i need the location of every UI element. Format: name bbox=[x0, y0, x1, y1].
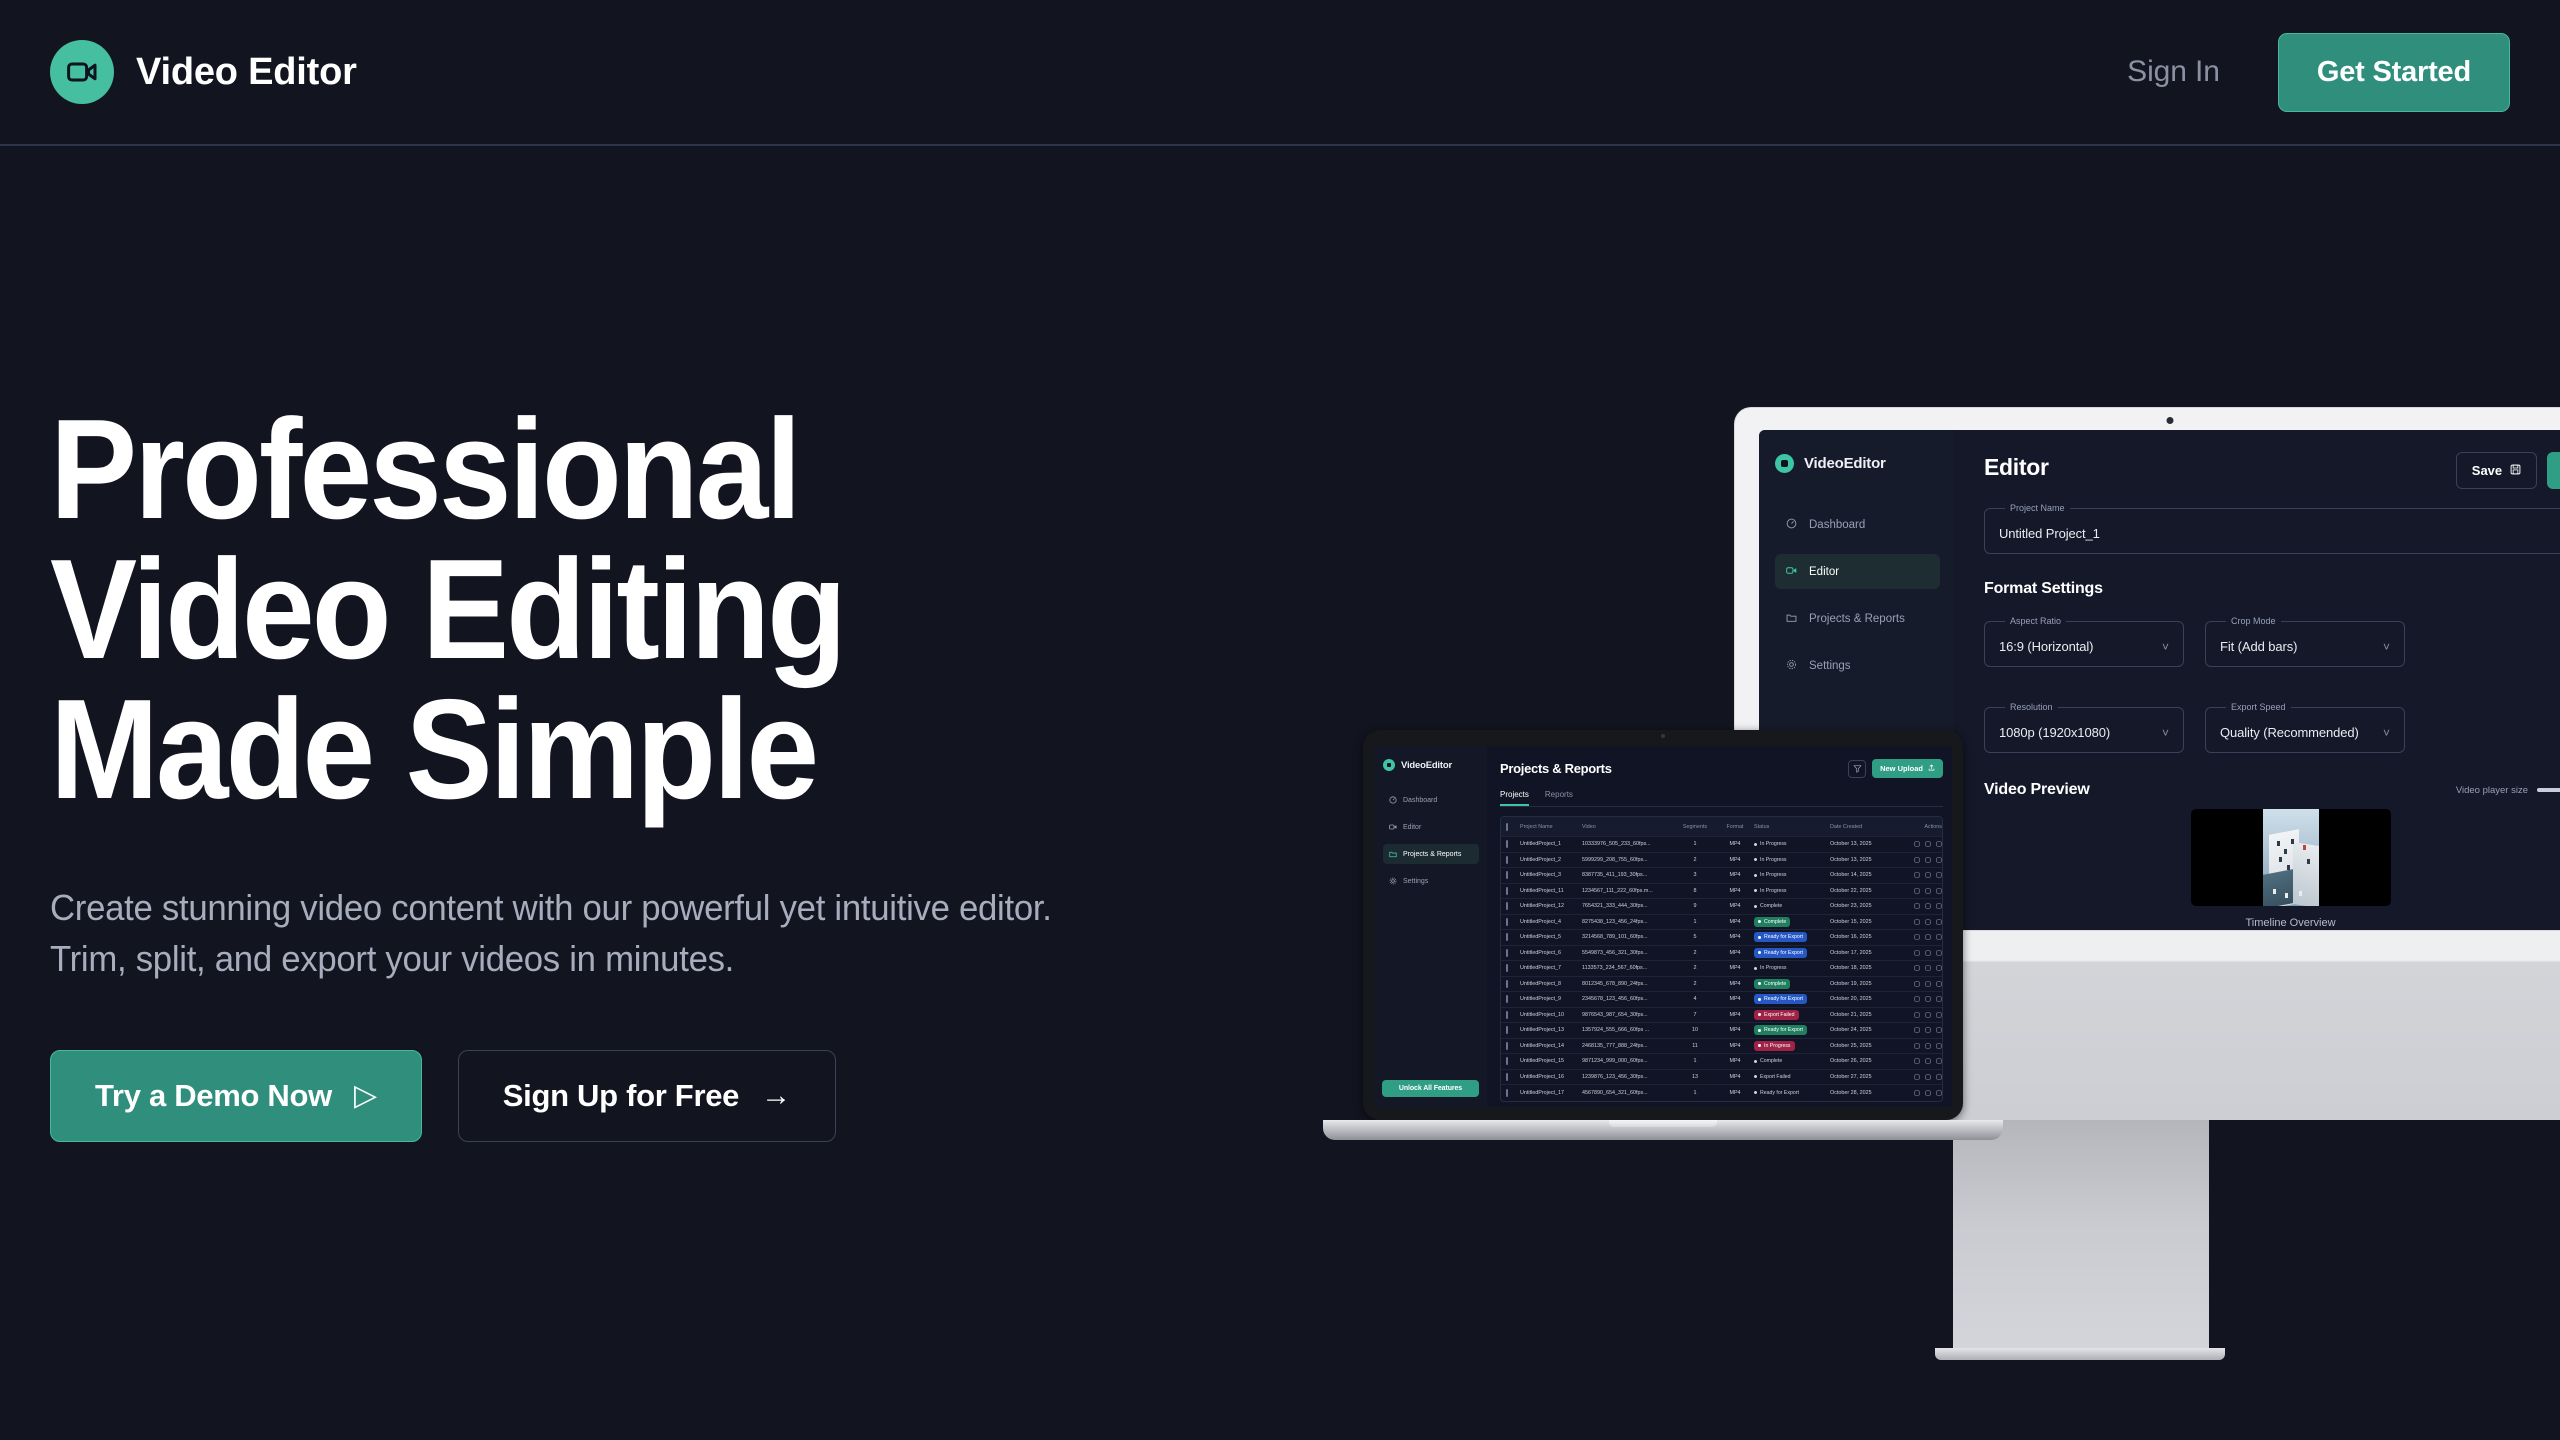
cell-video: 8387735_411_193_30fps... bbox=[1582, 872, 1674, 878]
sidebar-item-dashboard[interactable]: Dashboard bbox=[1383, 790, 1479, 810]
status-badge: Ready for Export bbox=[1754, 1025, 1807, 1035]
app-logo-icon bbox=[1383, 759, 1395, 771]
cell-segments: 4 bbox=[1674, 996, 1716, 1002]
trash-icon[interactable] bbox=[1936, 1043, 1942, 1049]
cell-date-created: October 14, 2025 bbox=[1830, 872, 1900, 878]
sidebar-item-editor[interactable]: Editor bbox=[1775, 554, 1940, 589]
table-row[interactable]: UntitledProject_110333976_505_233_60fps.… bbox=[1501, 837, 1942, 853]
cell-video: 10333976_505_233_60fps... bbox=[1582, 841, 1674, 847]
download-icon[interactable] bbox=[1925, 1043, 1931, 1049]
download-icon[interactable] bbox=[1925, 981, 1931, 987]
sign-up-button[interactable]: Sign Up for Free → bbox=[458, 1050, 836, 1142]
cell-segments: 1 bbox=[1674, 1090, 1716, 1096]
cell-date-created: October 20, 2025 bbox=[1830, 996, 1900, 1002]
table-row[interactable]: UntitledProject_174567890_654_321_60fps.… bbox=[1501, 1085, 1942, 1101]
edit-icon[interactable] bbox=[1914, 1012, 1920, 1018]
video-preview-header: Video Preview Video player size bbox=[1984, 781, 2560, 799]
row-checkbox[interactable] bbox=[1506, 872, 1520, 878]
landing-page: Video Editor Sign In Get Started Profess… bbox=[0, 0, 2560, 1440]
cell-date-created: October 16, 2025 bbox=[1830, 934, 1900, 940]
cell-format: MP4 bbox=[1716, 996, 1754, 1002]
cell-video: 3214568_789_101_60fps... bbox=[1582, 934, 1674, 940]
table-row[interactable]: UntitledProject_131357924_555_666_60fps … bbox=[1501, 1023, 1942, 1039]
cell-segments: 3 bbox=[1674, 872, 1716, 878]
cell-format: MP4 bbox=[1716, 888, 1754, 894]
row-checkbox[interactable] bbox=[1506, 934, 1520, 940]
cell-video: 2345678_123_456_60fps... bbox=[1582, 996, 1674, 1002]
cell-status: Export Failed bbox=[1754, 1010, 1830, 1020]
cell-status: Complete bbox=[1754, 901, 1830, 911]
cell-format: MP4 bbox=[1716, 857, 1754, 863]
edit-icon[interactable] bbox=[1914, 1058, 1920, 1064]
table-row[interactable]: UntitledProject_71133573_234_567_60fps..… bbox=[1501, 961, 1942, 977]
resolution-label: Resolution bbox=[2005, 702, 2058, 712]
laptop-app-brand-label: VideoEditor bbox=[1401, 760, 1452, 771]
table-row[interactable]: UntitledProject_127654321_333_444_30fps.… bbox=[1501, 899, 1942, 915]
sidebar-item-settings[interactable]: Settings bbox=[1775, 648, 1940, 683]
col-project-name[interactable]: Project Name bbox=[1520, 824, 1582, 830]
new-upload-button[interactable]: New Upload bbox=[1872, 759, 1943, 778]
export-speed-label: Export Speed bbox=[2226, 702, 2291, 712]
cell-date-created: October 24, 2025 bbox=[1830, 1027, 1900, 1033]
cell-format: MP4 bbox=[1716, 872, 1754, 878]
gear-icon bbox=[1389, 877, 1397, 885]
col-video[interactable]: Video bbox=[1582, 824, 1674, 830]
cell-project-name: UntitledProject_3 bbox=[1520, 872, 1582, 878]
cell-actions bbox=[1900, 1043, 1942, 1049]
cell-status: Export Failed bbox=[1754, 1072, 1830, 1082]
download-icon[interactable] bbox=[1925, 903, 1931, 909]
row-checkbox[interactable] bbox=[1506, 919, 1520, 925]
trash-icon[interactable] bbox=[1936, 934, 1942, 940]
video-player-size-slider[interactable]: Video player size bbox=[2456, 785, 2560, 796]
sidebar-item-dashboard[interactable]: Dashboard bbox=[1775, 507, 1940, 542]
brand-name: Video Editor bbox=[136, 51, 357, 94]
col-format[interactable]: Format bbox=[1716, 824, 1754, 830]
status-badge: Complete bbox=[1754, 1056, 1786, 1066]
projects-table: Project Name Video Segments Format Statu… bbox=[1500, 816, 1943, 1102]
col-segments[interactable]: Segments bbox=[1674, 824, 1716, 830]
row-checkbox[interactable] bbox=[1506, 903, 1520, 909]
cell-project-name: UntitledProject_6 bbox=[1520, 950, 1582, 956]
table-row[interactable]: UntitledProject_161239876_123_456_30fps.… bbox=[1501, 1070, 1942, 1086]
project-name-field[interactable]: Project Name Untitled Project_1 bbox=[1984, 503, 2560, 554]
trash-icon[interactable] bbox=[1936, 919, 1942, 925]
cell-project-name: UntitledProject_15 bbox=[1520, 1058, 1582, 1064]
row-checkbox[interactable] bbox=[1506, 1043, 1520, 1049]
trash-icon[interactable] bbox=[1936, 1027, 1942, 1033]
cell-project-name: UntitledProject_17 bbox=[1520, 1090, 1582, 1096]
row-checkbox[interactable] bbox=[1506, 1012, 1520, 1018]
row-checkbox[interactable] bbox=[1506, 950, 1520, 956]
status-badge: In Progress bbox=[1754, 1041, 1795, 1051]
download-icon[interactable] bbox=[1925, 857, 1931, 863]
sidebar-item-projects-reports[interactable]: Projects & Reports bbox=[1383, 844, 1479, 864]
cell-date-created: October 19, 2025 bbox=[1830, 981, 1900, 987]
sidebar-label: Editor bbox=[1403, 824, 1421, 831]
status-badge: Ready for Export bbox=[1754, 948, 1807, 958]
cell-status: Ready for Export bbox=[1754, 994, 1830, 1004]
cell-project-name: UntitledProject_4 bbox=[1520, 919, 1582, 925]
cell-project-name: UntitledProject_12 bbox=[1520, 903, 1582, 909]
video-icon bbox=[1786, 565, 1799, 578]
table-row[interactable]: UntitledProject_25999299_208_755_60fps..… bbox=[1501, 853, 1942, 869]
hero-section: Professional Video Editing Made Simple C… bbox=[50, 400, 1200, 1142]
format-settings-fields: Aspect Ratio 16:9 (Horizontal) ˅ Crop Mo… bbox=[1984, 602, 2560, 753]
laptop-lid: VideoEditor Dashboard Editor Projec bbox=[1363, 730, 1963, 1120]
laptop-app-main: Projects & Reports New Upload Projects bbox=[1487, 746, 1952, 1107]
gauge-icon bbox=[1786, 518, 1799, 531]
cell-format: MP4 bbox=[1716, 1012, 1754, 1018]
trash-icon[interactable] bbox=[1936, 965, 1942, 971]
format-settings-title: Format Settings bbox=[1984, 580, 2560, 598]
edit-icon[interactable] bbox=[1914, 981, 1920, 987]
edit-icon[interactable] bbox=[1914, 996, 1920, 1002]
gear-icon bbox=[1786, 659, 1799, 672]
download-icon[interactable] bbox=[1925, 1012, 1931, 1018]
download-icon[interactable] bbox=[1925, 888, 1931, 894]
cell-status: In Progress bbox=[1754, 963, 1830, 973]
cell-format: MP4 bbox=[1716, 1043, 1754, 1049]
trash-icon[interactable] bbox=[1936, 1058, 1942, 1064]
upload-icon bbox=[1928, 764, 1935, 773]
cell-project-name: UntitledProject_2 bbox=[1520, 857, 1582, 863]
cell-video: 8012345_678_890_24fps... bbox=[1582, 981, 1674, 987]
col-status[interactable]: Status bbox=[1754, 824, 1830, 830]
get-started-button[interactable]: Get Started bbox=[2278, 33, 2510, 112]
laptop-notch-camera-icon bbox=[1622, 730, 1704, 742]
export-speed-value: Quality (Recommended) bbox=[2220, 725, 2359, 740]
cell-video: 1239876_123_456_30fps... bbox=[1582, 1074, 1674, 1080]
project-name-label: Project Name bbox=[2005, 503, 2070, 513]
row-checkbox[interactable] bbox=[1506, 888, 1520, 894]
row-checkbox[interactable] bbox=[1506, 1058, 1520, 1064]
download-icon[interactable] bbox=[1925, 965, 1931, 971]
laptop-screen: VideoEditor Dashboard Editor Projec bbox=[1374, 746, 1952, 1107]
video-icon bbox=[1389, 823, 1397, 831]
trash-icon[interactable] bbox=[1936, 903, 1942, 909]
cell-format: MP4 bbox=[1716, 1058, 1754, 1064]
sidebar-label: Dashboard bbox=[1809, 519, 1865, 531]
cell-status: Ready for Export bbox=[1754, 1025, 1830, 1035]
status-badge: In Progress bbox=[1754, 886, 1791, 896]
try-demo-button[interactable]: Try a Demo Now ▷ bbox=[50, 1050, 422, 1142]
cell-status: Ready for Export bbox=[1754, 948, 1830, 958]
sidebar-label: Dashboard bbox=[1403, 797, 1437, 804]
trash-icon[interactable] bbox=[1936, 1074, 1942, 1080]
sign-in-link[interactable]: Sign In bbox=[2127, 55, 2220, 89]
edit-icon[interactable] bbox=[1914, 888, 1920, 894]
trash-icon[interactable] bbox=[1936, 1012, 1942, 1018]
save-button[interactable]: Save bbox=[2456, 452, 2537, 489]
aspect-ratio-value: 16:9 (Horizontal) bbox=[1999, 639, 2093, 654]
sidebar-label: Settings bbox=[1403, 878, 1428, 885]
trash-icon[interactable] bbox=[1936, 996, 1942, 1002]
cell-actions bbox=[1900, 888, 1942, 894]
cell-format: MP4 bbox=[1716, 1027, 1754, 1033]
brand[interactable]: Video Editor bbox=[50, 40, 357, 104]
project-name-value: Untitled Project_1 bbox=[1999, 526, 2560, 541]
arrow-right-icon: → bbox=[761, 1081, 791, 1111]
cell-actions bbox=[1900, 857, 1942, 863]
download-icon[interactable] bbox=[1925, 996, 1931, 1002]
row-checkbox[interactable] bbox=[1506, 1027, 1520, 1033]
cell-project-name: UntitledProject_7 bbox=[1520, 965, 1582, 971]
status-badge: Export Failed bbox=[1754, 1010, 1799, 1020]
monitor-app-brand-label: VideoEditor bbox=[1804, 455, 1886, 472]
edit-icon[interactable] bbox=[1914, 1027, 1920, 1033]
cell-segments: 9 bbox=[1674, 903, 1716, 909]
download-icon[interactable] bbox=[1925, 841, 1931, 847]
trash-icon[interactable] bbox=[1936, 888, 1942, 894]
cell-date-created: October 18, 2025 bbox=[1830, 965, 1900, 971]
row-checkbox[interactable] bbox=[1506, 857, 1520, 863]
cell-video: 1357924_555_666_60fps ... bbox=[1582, 1027, 1674, 1033]
download-icon[interactable] bbox=[1925, 919, 1931, 925]
table-row[interactable]: UntitledProject_159871234_999_000_60fps.… bbox=[1501, 1054, 1942, 1070]
cell-actions bbox=[1900, 903, 1942, 909]
cell-segments: 2 bbox=[1674, 981, 1716, 987]
cell-date-created: October 13, 2025 bbox=[1830, 857, 1900, 863]
status-badge: Complete bbox=[1754, 917, 1790, 927]
cell-project-name: UntitledProject_16 bbox=[1520, 1074, 1582, 1080]
edit-icon[interactable] bbox=[1914, 919, 1920, 925]
export-button[interactable]: Exp bbox=[2547, 452, 2560, 489]
cell-project-name: UntitledProject_8 bbox=[1520, 981, 1582, 987]
table-row[interactable]: UntitledProject_65549873_456_321_30fps..… bbox=[1501, 946, 1942, 962]
cell-segments: 5 bbox=[1674, 934, 1716, 940]
edit-icon[interactable] bbox=[1914, 1090, 1920, 1096]
video-frame-building-image bbox=[2263, 809, 2319, 906]
table-row[interactable]: UntitledProject_142468135_777_888_24fps.… bbox=[1501, 1039, 1942, 1055]
filter-icon[interactable] bbox=[1848, 760, 1866, 778]
table-row[interactable]: UntitledProject_88012345_678_890_24fps..… bbox=[1501, 977, 1942, 993]
status-badge: In Progress bbox=[1754, 839, 1791, 849]
tab-projects[interactable]: Projects bbox=[1500, 790, 1529, 806]
timeline-overview-label: Timeline Overview bbox=[2245, 917, 2335, 929]
cell-segments: 1 bbox=[1674, 919, 1716, 925]
status-badge: In Progress bbox=[1754, 963, 1791, 973]
status-badge: In Progress bbox=[1754, 855, 1791, 865]
chevron-down-icon: ˅ bbox=[2383, 641, 2390, 653]
cell-video: 8275438_123_456_24fps... bbox=[1582, 919, 1674, 925]
sidebar-item-editor[interactable]: Editor bbox=[1383, 817, 1479, 837]
try-demo-label: Try a Demo Now bbox=[95, 1078, 332, 1114]
cell-date-created: October 21, 2025 bbox=[1830, 1012, 1900, 1018]
aspect-ratio-select[interactable]: Aspect Ratio 16:9 (Horizontal) ˅ bbox=[1984, 616, 2184, 667]
play-triangle-icon: ▷ bbox=[354, 1081, 377, 1111]
export-speed-select[interactable]: Export Speed Quality (Recommended) ˅ bbox=[2205, 702, 2405, 753]
trash-icon[interactable] bbox=[1936, 872, 1942, 878]
cell-format: MP4 bbox=[1716, 934, 1754, 940]
table-row[interactable]: UntitledProject_109876543_987_654_30fps.… bbox=[1501, 1008, 1942, 1024]
table-row[interactable]: UntitledProject_48275438_123_456_24fps..… bbox=[1501, 915, 1942, 931]
cell-status: In Progress bbox=[1754, 1041, 1830, 1051]
laptop-page-header: Projects & Reports New Upload bbox=[1500, 759, 1943, 778]
edit-icon[interactable] bbox=[1914, 1043, 1920, 1049]
edit-icon[interactable] bbox=[1914, 934, 1920, 940]
row-checkbox[interactable] bbox=[1506, 981, 1520, 987]
cell-format: MP4 bbox=[1716, 1074, 1754, 1080]
trash-icon[interactable] bbox=[1936, 1090, 1942, 1096]
sidebar-label: Projects & Reports bbox=[1403, 851, 1461, 858]
cell-video: 5549873_456_321_30fps... bbox=[1582, 950, 1674, 956]
laptop-app-brand: VideoEditor bbox=[1383, 759, 1479, 771]
cell-date-created: October 23, 2025 bbox=[1830, 903, 1900, 909]
edit-icon[interactable] bbox=[1914, 841, 1920, 847]
col-date-created[interactable]: Date Created bbox=[1830, 824, 1900, 830]
laptop-mockup: VideoEditor Dashboard Editor Projec bbox=[1363, 730, 2043, 1140]
cell-actions bbox=[1900, 996, 1942, 1002]
download-icon[interactable] bbox=[1925, 1090, 1931, 1096]
cell-video: 5999299_208_755_60fps... bbox=[1582, 857, 1674, 863]
cell-video: 1133573_234_567_60fps... bbox=[1582, 965, 1674, 971]
table-row[interactable]: UntitledProject_92345678_123_456_60fps..… bbox=[1501, 992, 1942, 1008]
row-checkbox[interactable] bbox=[1506, 1090, 1520, 1096]
folder-icon bbox=[1786, 612, 1799, 625]
cell-actions bbox=[1900, 1012, 1942, 1018]
floppy-disk-icon bbox=[2510, 463, 2521, 478]
slider-track[interactable] bbox=[2537, 788, 2560, 792]
cell-actions bbox=[1900, 1027, 1942, 1033]
edit-icon[interactable] bbox=[1914, 965, 1920, 971]
edit-icon[interactable] bbox=[1914, 950, 1920, 956]
cell-segments: 1 bbox=[1674, 841, 1716, 847]
cell-status: Complete bbox=[1754, 979, 1830, 989]
cell-status: In Progress bbox=[1754, 886, 1830, 896]
monitor-camera-icon bbox=[2167, 417, 2174, 424]
monitor-app-main: Editor Save Exp Project Name bbox=[1954, 430, 2560, 930]
cell-date-created: October 27, 2025 bbox=[1830, 1074, 1900, 1080]
hero-cta-row: Try a Demo Now ▷ Sign Up for Free → bbox=[50, 1050, 1200, 1142]
cell-segments: 2 bbox=[1674, 965, 1716, 971]
hero-subheading: Create stunning video content with our p… bbox=[50, 882, 1121, 984]
cell-actions bbox=[1900, 981, 1942, 987]
status-badge: Complete bbox=[1754, 979, 1790, 989]
sidebar-label: Projects & Reports bbox=[1809, 613, 1905, 625]
table-row[interactable]: UntitledProject_111234567_111_222_60fps.… bbox=[1501, 884, 1942, 900]
edit-icon[interactable] bbox=[1914, 872, 1920, 878]
laptop-base bbox=[1323, 1120, 2003, 1140]
status-badge: In Progress bbox=[1754, 870, 1791, 880]
cell-segments: 1 bbox=[1674, 1058, 1716, 1064]
gauge-icon bbox=[1389, 796, 1397, 804]
sidebar-label: Settings bbox=[1809, 660, 1851, 672]
download-icon[interactable] bbox=[1925, 1027, 1931, 1033]
sidebar-item-projects-reports[interactable]: Projects & Reports bbox=[1775, 601, 1940, 636]
trash-icon[interactable] bbox=[1936, 950, 1942, 956]
cell-actions bbox=[1900, 934, 1942, 940]
status-badge: Ready for Export bbox=[1754, 932, 1807, 942]
new-upload-label: New Upload bbox=[1880, 764, 1923, 773]
unlock-all-features-button[interactable]: Unlock All Features bbox=[1382, 1080, 1479, 1097]
tab-reports[interactable]: Reports bbox=[1545, 790, 1573, 806]
cell-actions bbox=[1900, 919, 1942, 925]
laptop-page-title: Projects & Reports bbox=[1500, 761, 1612, 776]
crop-mode-select[interactable]: Crop Mode Fit (Add bars) ˅ bbox=[2205, 616, 2405, 667]
sidebar-item-settings[interactable]: Settings bbox=[1383, 871, 1479, 891]
header-actions: Sign In Get Started bbox=[2127, 33, 2510, 112]
cell-date-created: October 28, 2025 bbox=[1830, 1090, 1900, 1096]
cell-date-created: October 15, 2025 bbox=[1830, 919, 1900, 925]
laptop-app-sidebar: VideoEditor Dashboard Editor Projec bbox=[1374, 746, 1487, 1107]
cell-status: Complete bbox=[1754, 917, 1830, 927]
row-checkbox[interactable] bbox=[1506, 965, 1520, 971]
hero-heading: Professional Video Editing Made Simple bbox=[50, 400, 1108, 820]
aspect-ratio-label: Aspect Ratio bbox=[2005, 616, 2066, 626]
edit-icon[interactable] bbox=[1914, 857, 1920, 863]
trash-icon[interactable] bbox=[1936, 857, 1942, 863]
edit-icon[interactable] bbox=[1914, 1074, 1920, 1080]
row-checkbox[interactable] bbox=[1506, 1074, 1520, 1080]
laptop-tabs: Projects Reports bbox=[1500, 790, 1943, 807]
cell-format: MP4 bbox=[1716, 950, 1754, 956]
laptop-header-actions: New Upload bbox=[1848, 759, 1943, 778]
table-row[interactable]: UntitledProject_53214568_789_101_60fps..… bbox=[1501, 930, 1942, 946]
cell-format: MP4 bbox=[1716, 965, 1754, 971]
cell-format: MP4 bbox=[1716, 903, 1754, 909]
cell-segments: 11 bbox=[1674, 1043, 1716, 1049]
cell-video: 9876543_987_654_30fps... bbox=[1582, 1012, 1674, 1018]
folder-icon bbox=[1389, 850, 1397, 858]
download-icon[interactable] bbox=[1925, 1074, 1931, 1080]
chevron-down-icon: ˅ bbox=[2162, 641, 2169, 653]
cell-actions bbox=[1900, 1058, 1942, 1064]
cell-date-created: October 22, 2025 bbox=[1830, 888, 1900, 894]
monitor-stand bbox=[1953, 1120, 2209, 1348]
trash-icon[interactable] bbox=[1936, 841, 1942, 847]
sign-up-label: Sign Up for Free bbox=[503, 1078, 739, 1114]
cell-status: In Progress bbox=[1754, 870, 1830, 880]
table-body: UntitledProject_110333976_505_233_60fps.… bbox=[1501, 837, 1942, 1101]
chevron-down-icon: ˅ bbox=[2383, 727, 2390, 739]
cell-segments: 2 bbox=[1674, 950, 1716, 956]
crop-mode-value: Fit (Add bars) bbox=[2220, 639, 2297, 654]
table-row[interactable]: UntitledProject_38387735_411_193_30fps..… bbox=[1501, 868, 1942, 884]
row-checkbox[interactable] bbox=[1506, 841, 1520, 847]
cell-project-name: UntitledProject_9 bbox=[1520, 996, 1582, 1002]
download-icon[interactable] bbox=[1925, 950, 1931, 956]
select-all-checkbox[interactable] bbox=[1506, 824, 1520, 830]
cell-format: MP4 bbox=[1716, 919, 1754, 925]
video-player[interactable] bbox=[2191, 809, 2391, 906]
edit-icon[interactable] bbox=[1914, 903, 1920, 909]
download-icon[interactable] bbox=[1925, 872, 1931, 878]
cell-actions bbox=[1900, 1090, 1942, 1096]
cell-actions bbox=[1900, 841, 1942, 847]
cell-video: 2468135_777_888_24fps... bbox=[1582, 1043, 1674, 1049]
cell-actions bbox=[1900, 950, 1942, 956]
cell-actions bbox=[1900, 1074, 1942, 1080]
cell-video: 4567890_654_321_60fps... bbox=[1582, 1090, 1674, 1096]
cell-actions bbox=[1900, 872, 1942, 878]
cell-actions bbox=[1900, 965, 1942, 971]
status-badge: Complete bbox=[1754, 901, 1786, 911]
cell-date-created: October 25, 2025 bbox=[1830, 1043, 1900, 1049]
cell-project-name: UntitledProject_13 bbox=[1520, 1027, 1582, 1033]
video-preview-area: Timeline Overview 2 bbox=[1984, 809, 2560, 930]
download-icon[interactable] bbox=[1925, 1058, 1931, 1064]
row-checkbox[interactable] bbox=[1506, 996, 1520, 1002]
cell-format: MP4 bbox=[1716, 841, 1754, 847]
trash-icon[interactable] bbox=[1936, 981, 1942, 987]
cell-segments: 8 bbox=[1674, 888, 1716, 894]
download-icon[interactable] bbox=[1925, 934, 1931, 940]
monitor-top-actions: Save Exp bbox=[2456, 452, 2560, 489]
cell-date-created: October 13, 2025 bbox=[1830, 841, 1900, 847]
cell-project-name: UntitledProject_1 bbox=[1520, 841, 1582, 847]
cell-status: In Progress bbox=[1754, 839, 1830, 849]
